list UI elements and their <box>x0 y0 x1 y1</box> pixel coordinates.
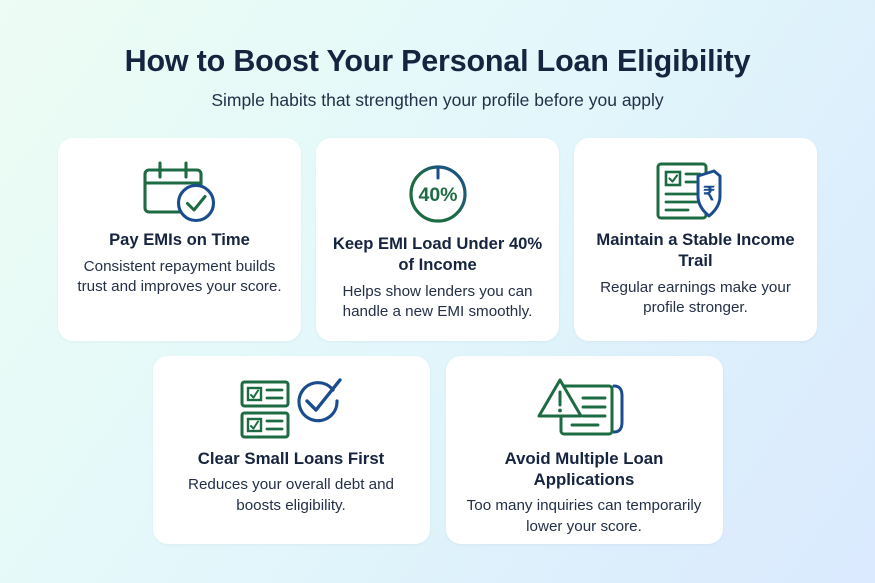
card-title: Clear Small Loans First <box>198 448 385 469</box>
card-pay-emis-on-time: Pay EMIs on Time Consistent repayment bu… <box>58 138 301 341</box>
card-maintain-stable-income-trail: ₹ Maintain a Stable Income Trail Regular… <box>574 138 817 341</box>
card-keep-emi-load-under-40: 40% Keep EMI Load Under 40% of Income He… <box>316 138 559 341</box>
checklist-cards-check-icon <box>239 378 343 440</box>
card-description: Consistent repayment builds trust and im… <box>74 257 285 298</box>
page-title: How to Boost Your Personal Loan Eligibil… <box>0 44 875 80</box>
page-subtitle: Simple habits that strengthen your profi… <box>0 90 875 111</box>
rupee-symbol: ₹ <box>702 184 714 205</box>
calendar-check-icon <box>140 160 220 222</box>
card-description: Regular earnings make your profile stron… <box>590 278 801 319</box>
card-avoid-multiple-loan-applications: Avoid Multiple Loan Applications Too man… <box>446 356 723 544</box>
card-description: Too many inquiries can temporarily lower… <box>462 496 707 537</box>
document-warning-icon <box>536 378 632 440</box>
donut-value-label: 40% <box>418 184 457 206</box>
card-row-top: Pay EMIs on Time Consistent repayment bu… <box>0 138 875 341</box>
card-title: Pay EMIs on Time <box>109 230 250 251</box>
card-description: Reduces your overall debt and boosts eli… <box>169 475 414 516</box>
card-title: Keep EMI Load Under 40% of Income <box>332 234 543 276</box>
donut-percent-icon: 40% <box>405 160 471 226</box>
card-clear-small-loans-first: Clear Small Loans First Reduces your ove… <box>153 356 430 544</box>
document-shield-rupee-icon: ₹ <box>654 160 738 222</box>
infographic-canvas: How to Boost Your Personal Loan Eligibil… <box>0 0 875 583</box>
card-title: Avoid Multiple Loan Applications <box>462 448 707 490</box>
card-row-bottom: Clear Small Loans First Reduces your ove… <box>0 356 875 544</box>
card-description: Helps show lenders you can handle a new … <box>332 282 543 323</box>
card-title: Maintain a Stable Income Trail <box>590 230 801 272</box>
header: How to Boost Your Personal Loan Eligibil… <box>0 0 875 111</box>
